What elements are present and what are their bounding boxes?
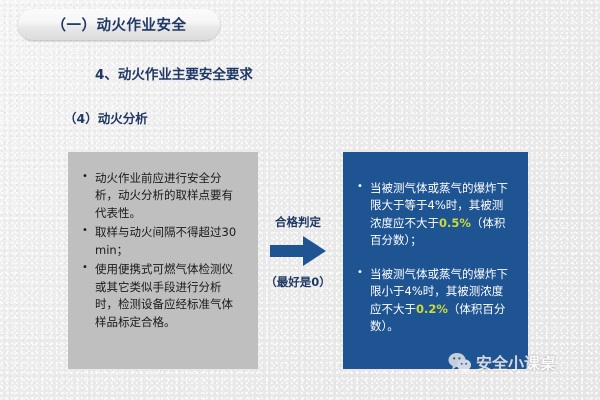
- watermark-text: 安全小课桌: [476, 350, 556, 374]
- subsection-heading: （4）动火分析: [64, 108, 148, 127]
- criteria-highlight-value: 0.2%: [416, 302, 448, 316]
- list-item: 动火作业前应进行安全分析，动火分析的取样点要有代表性。: [80, 170, 244, 222]
- page-title: （一）动火作业安全: [52, 14, 187, 35]
- list-item: 取样与动火间隔不得超过30 min；: [80, 224, 244, 259]
- blue-box-bullet-list: 当被测气体或蒸气的爆炸下限大于等于4%时，其被测浓度应不大于0.5%（体积百分数…: [355, 180, 514, 336]
- connector-label-top: 合格判定: [258, 214, 338, 230]
- slide-title-banner: （一）动火作业安全: [18, 9, 220, 40]
- requirements-gray-box: 动火作业前应进行安全分析，动火分析的取样点要有代表性。 取样与动火间隔不得超过3…: [68, 152, 258, 369]
- connector-label-bottom: （最好是0）: [258, 274, 338, 290]
- list-item: 当被测气体或蒸气的爆炸下限小于4%时，其被测浓度应不大于0.2%（体积百分数）。: [355, 266, 514, 336]
- list-item: 当被测气体或蒸气的爆炸下限大于等于4%时，其被测浓度应不大于0.5%（体积百分数…: [355, 180, 514, 250]
- criteria-blue-box: 当被测气体或蒸气的爆炸下限大于等于4%时，其被测浓度应不大于0.5%（体积百分数…: [343, 152, 528, 369]
- list-item: 使用便携式可燃气体检测仪或其它类似手段进行分析时，检测设备应经标准气体样品标定合…: [80, 261, 244, 331]
- criteria-highlight-value: 0.5%: [439, 216, 471, 230]
- watermark: 安全小课桌: [448, 350, 556, 374]
- gray-box-bullet-list: 动火作业前应进行安全分析，动火分析的取样点要有代表性。 取样与动火间隔不得超过3…: [80, 170, 244, 331]
- connector-group: 合格判定 （最好是0）: [258, 214, 338, 290]
- section-heading: 4、动火作业主要安全要求: [95, 63, 253, 83]
- right-arrow-icon: [270, 236, 326, 266]
- slide-canvas: （一）动火作业安全 4、动火作业主要安全要求 （4）动火分析 动火作业前应进行安…: [0, 0, 600, 400]
- wechat-icon: [448, 352, 472, 372]
